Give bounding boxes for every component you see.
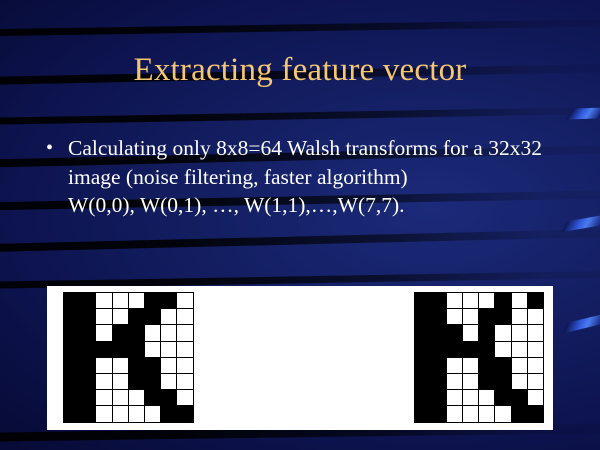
bitmap-cell-r6-c3	[447, 374, 463, 390]
bitmap-cell-r8-c8	[177, 406, 193, 422]
bitmap-cell-r3-c6	[145, 325, 161, 341]
bitmap-cell-r2-c3	[447, 309, 463, 325]
wave-band	[0, 227, 600, 252]
bitmap-cell-r1-c6	[145, 293, 161, 309]
bitmap-cell-r2-c4	[113, 309, 129, 325]
bitmap-cell-r4-c4	[113, 342, 129, 358]
bitmap-cell-r3-c4	[113, 325, 129, 341]
bitmap-cell-r3-c7	[161, 325, 177, 341]
bitmap-cell-r1-c5	[129, 293, 145, 309]
bitmap-cell-r1-c4	[463, 293, 479, 309]
bitmap-cell-r1-c2	[431, 293, 447, 309]
bitmap-cell-r8-c5	[479, 406, 495, 422]
bitmap-cell-r3-c7	[512, 325, 528, 341]
bitmap-cell-r1-c3	[447, 293, 463, 309]
bitmap-cell-r7-c1	[64, 390, 80, 406]
bitmap-cell-r2-c6	[145, 309, 161, 325]
bitmap-cell-r6-c3	[96, 374, 112, 390]
bitmap-cell-r4-c8	[528, 342, 544, 358]
bitmap-cell-r6-c5	[129, 374, 145, 390]
accent-streak-icon	[562, 215, 600, 232]
bitmap-cell-r7-c8	[177, 390, 193, 406]
bitmap-cell-r8-c4	[463, 406, 479, 422]
bitmap-cell-r8-c7	[161, 406, 177, 422]
bitmap-cell-r2-c4	[463, 309, 479, 325]
bitmap-cell-r5-c7	[161, 358, 177, 374]
bitmap-grids-container	[53, 292, 547, 424]
bullet-text: Calculating only 8x8=64 Walsh transforms…	[68, 134, 566, 191]
bitmap-cell-r2-c5	[129, 309, 145, 325]
bitmap-cell-r3-c2	[431, 325, 447, 341]
bitmap-cell-r4-c4	[463, 342, 479, 358]
bitmap-cell-r7-c5	[479, 390, 495, 406]
bitmap-cell-r3-c1	[64, 325, 80, 341]
bitmap-cell-r1-c4	[113, 293, 129, 309]
bitmap-cell-r7-c3	[96, 390, 112, 406]
bitmap-cell-r5-c6	[495, 358, 511, 374]
bitmap-cell-r5-c2	[80, 358, 96, 374]
bitmap-cell-r8-c2	[431, 406, 447, 422]
bitmap-cell-r6-c5	[479, 374, 495, 390]
bitmap-cell-r1-c2	[80, 293, 96, 309]
bitmap-cell-r8-c1	[415, 406, 431, 422]
bitmap-cell-r7-c7	[512, 390, 528, 406]
bitmap-cell-r2-c3	[96, 309, 112, 325]
accent-streak-icon	[566, 107, 600, 119]
bitmap-cell-r3-c4	[463, 325, 479, 341]
bitmap-cell-r3-c6	[495, 325, 511, 341]
bitmap-cell-r7-c2	[431, 390, 447, 406]
bitmap-cell-r7-c8	[528, 390, 544, 406]
bitmap-cell-r4-c7	[512, 342, 528, 358]
bitmap-cell-r2-c5	[479, 309, 495, 325]
bitmap-cell-r8-c6	[145, 406, 161, 422]
bitmap-cell-r6-c6	[495, 374, 511, 390]
bitmap-cell-r4-c1	[415, 342, 431, 358]
bitmap-cell-r7-c2	[80, 390, 96, 406]
bitmap-cell-r6-c2	[80, 374, 96, 390]
wave-band	[0, 18, 600, 36]
bitmap-cell-r5-c2	[431, 358, 447, 374]
bitmap-cell-r5-c3	[447, 358, 463, 374]
bitmap-cell-r2-c7	[512, 309, 528, 325]
bitmap-cell-r2-c8	[528, 309, 544, 325]
bitmap-cell-r7-c6	[145, 390, 161, 406]
bitmap-cell-r6-c8	[528, 374, 544, 390]
bitmap-cell-r5-c5	[479, 358, 495, 374]
bitmap-cell-r5-c5	[129, 358, 145, 374]
bitmap-cell-r5-c1	[64, 358, 80, 374]
bitmap-cell-r2-c2	[431, 309, 447, 325]
bitmap-cell-r8-c3	[96, 406, 112, 422]
bitmap-cell-r8-c7	[512, 406, 528, 422]
bitmap-cell-r2-c2	[80, 309, 96, 325]
bitmap-cell-r2-c8	[177, 309, 193, 325]
bitmap-figure-panel	[47, 286, 553, 430]
bitmap-cell-r8-c4	[113, 406, 129, 422]
bitmap-cell-r4-c8	[177, 342, 193, 358]
bitmap-cell-r8-c3	[447, 406, 463, 422]
bitmap-cell-r7-c4	[463, 390, 479, 406]
bitmap-cell-r5-c4	[113, 358, 129, 374]
right-letter-k-bitmap	[414, 292, 545, 423]
bitmap-cell-r6-c6	[145, 374, 161, 390]
bitmap-cell-r8-c8	[528, 406, 544, 422]
bitmap-cell-r5-c8	[177, 358, 193, 374]
bitmap-cell-r1-c1	[415, 293, 431, 309]
bitmap-cell-r4-c2	[80, 342, 96, 358]
bitmap-cell-r1-c3	[96, 293, 112, 309]
bitmap-cell-r7-c4	[113, 390, 129, 406]
bitmap-cell-r3-c2	[80, 325, 96, 341]
bitmap-cell-r6-c1	[415, 374, 431, 390]
bitmap-cell-r5-c1	[415, 358, 431, 374]
bitmap-cell-r8-c1	[64, 406, 80, 422]
bitmap-cell-r3-c3	[447, 325, 463, 341]
bitmap-cell-r4-c5	[479, 342, 495, 358]
bitmap-cell-r3-c8	[528, 325, 544, 341]
bitmap-cell-r4-c6	[495, 342, 511, 358]
presentation-slide: Extracting feature vector • Calculating …	[0, 0, 600, 450]
bitmap-cell-r4-c2	[431, 342, 447, 358]
bitmap-cell-r7-c6	[495, 390, 511, 406]
accent-streak-icon	[564, 314, 600, 333]
bitmap-cell-r4-c3	[447, 342, 463, 358]
bitmap-cell-r6-c4	[113, 374, 129, 390]
bitmap-cell-r2-c1	[415, 309, 431, 325]
bitmap-cell-r3-c8	[177, 325, 193, 341]
bitmap-cell-r7-c1	[415, 390, 431, 406]
bitmap-cell-r1-c8	[177, 293, 193, 309]
bitmap-cell-r5-c7	[512, 358, 528, 374]
bitmap-cell-r2-c1	[64, 309, 80, 325]
bitmap-cell-r5-c6	[145, 358, 161, 374]
left-letter-k-bitmap	[63, 292, 194, 423]
bitmap-cell-r6-c7	[512, 374, 528, 390]
bitmap-cell-r8-c5	[129, 406, 145, 422]
bitmap-cell-r2-c7	[161, 309, 177, 325]
bitmap-cell-r4-c5	[129, 342, 145, 358]
bitmap-cell-r5-c4	[463, 358, 479, 374]
bitmap-cell-r6-c8	[177, 374, 193, 390]
bitmap-cell-r1-c7	[512, 293, 528, 309]
bitmap-cell-r5-c8	[528, 358, 544, 374]
bullet-marker-icon: •	[46, 134, 68, 163]
slide-title: Extracting feature vector	[0, 52, 600, 88]
bitmap-cell-r7-c5	[129, 390, 145, 406]
bitmap-cell-r1-c7	[161, 293, 177, 309]
bitmap-cell-r1-c6	[495, 293, 511, 309]
bitmap-cell-r6-c2	[431, 374, 447, 390]
bitmap-cell-r8-c2	[80, 406, 96, 422]
bitmap-cell-r4-c6	[145, 342, 161, 358]
bitmap-cell-r6-c4	[463, 374, 479, 390]
slide-body: • Calculating only 8x8=64 Walsh transfor…	[46, 134, 566, 220]
bitmap-cell-r6-c1	[64, 374, 80, 390]
bitmap-cell-r4-c1	[64, 342, 80, 358]
bitmap-cell-r3-c5	[129, 325, 145, 341]
bitmap-cell-r8-c6	[495, 406, 511, 422]
bitmap-cell-r1-c1	[64, 293, 80, 309]
bitmap-cell-r2-c6	[495, 309, 511, 325]
sub-line-text: W(0,0), W(0,1), …, W(1,1),…,W(7,7).	[68, 191, 566, 220]
bullet-item: • Calculating only 8x8=64 Walsh transfor…	[46, 134, 566, 191]
bitmap-cell-r1-c5	[479, 293, 495, 309]
wave-band	[0, 106, 600, 125]
bitmap-cell-r3-c1	[415, 325, 431, 341]
bitmap-cell-r6-c7	[161, 374, 177, 390]
bitmap-cell-r5-c3	[96, 358, 112, 374]
bitmap-cell-r7-c7	[161, 390, 177, 406]
bitmap-cell-r4-c3	[96, 342, 112, 358]
bitmap-cell-r3-c3	[96, 325, 112, 341]
bitmap-cell-r1-c8	[528, 293, 544, 309]
bitmap-cell-r3-c5	[479, 325, 495, 341]
bitmap-cell-r7-c3	[447, 390, 463, 406]
bitmap-cell-r4-c7	[161, 342, 177, 358]
